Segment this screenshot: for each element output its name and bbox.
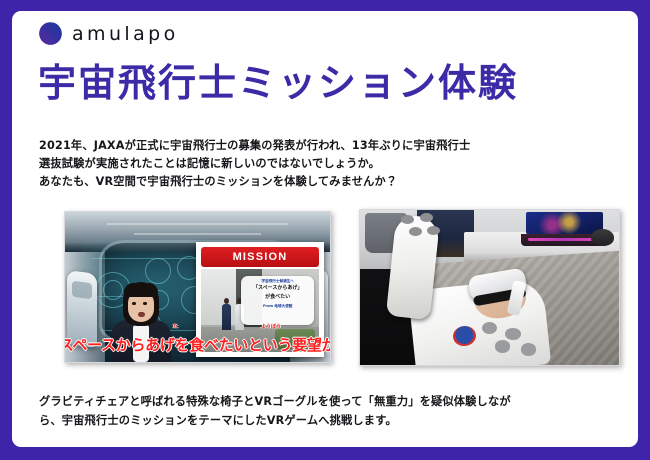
page-title: 宇宙飛行士ミッション体験	[38, 63, 518, 105]
slide-card: amulapo 宇宙飛行士ミッション体験 2021年、JAXAが正式に宇宙飛行士…	[12, 11, 638, 447]
mission-label: MISSION	[233, 251, 288, 263]
subtitle-ruby-2: ようぼう	[261, 323, 281, 330]
amulapo-circle-mark-icon	[38, 21, 63, 46]
outro-line-2: ら、宇宙飛行士のミッションをテーマにしたVRゲームへ挑戦します。	[39, 411, 544, 430]
lead-line-1: 2021年、JAXAが正式に宇宙飛行士の募集の発表が行われ、13年ぶりに宇宙飛行…	[39, 137, 470, 155]
bubble-addressee: 宇宙飛行士候補生へ	[244, 279, 311, 284]
computer-mouse	[591, 229, 614, 246]
laptop-screen	[526, 212, 604, 235]
brand-logo: amulapo	[38, 21, 179, 46]
logo-wordmark: amulapo	[72, 23, 179, 44]
lead-line-2: 選抜試験が実施されたことは記憶に新しいのではないでしょうか。	[39, 155, 470, 173]
outro-paragraph: グラビティチェアと呼ばれる特殊な椅子とVRゴーグルを使って「無重力」を疑似体験し…	[39, 392, 544, 431]
photo-row: MISSION 宇宙飛行士候補生へ 「スペースからあげ」	[12, 206, 638, 374]
subtitle-ruby-1: た	[173, 323, 178, 330]
chest-marker-1	[482, 322, 498, 334]
vr-gravity-chair-photo	[359, 209, 620, 366]
lead-line-3: あなたも、VR空間で宇宙飛行士のミッションを体験してみませんか？	[39, 173, 470, 191]
outro-line-1: グラビティチェアと呼ばれる特殊な椅子とVRゴーグルを使って「無重力」を疑似体験し…	[39, 392, 544, 411]
glove-marker-4	[427, 226, 440, 235]
glove-marker-2	[420, 213, 433, 222]
video-subtitle-bar: スペースからあげを食べたいという要望が た ようぼう	[65, 330, 330, 356]
chest-marker-4	[521, 343, 537, 355]
video-subtitle-text: スペースからあげを食べたいという要望が	[65, 338, 330, 356]
chest-marker-3	[495, 340, 511, 352]
lead-paragraph: 2021年、JAXAが正式に宇宙飛行士の募集の発表が行われ、13年ぶりに宇宙飛行…	[39, 137, 470, 191]
mission-speech-bubble: 宇宙飛行士候補生へ 「スペースからあげ」 が食べたい From 地球大使館	[241, 276, 314, 326]
bubble-line-2: が食べたい	[244, 294, 311, 301]
spacecraft-interior-photo: MISSION 宇宙飛行士候補生へ 「スペースからあげ」	[64, 211, 331, 363]
bubble-line-1: 「スペースからあげ」	[244, 285, 311, 292]
mission-title-bar: MISSION	[201, 247, 319, 267]
bubble-sender: From 地球大使館	[244, 304, 311, 309]
chest-marker-2	[505, 328, 521, 340]
slide-frame: amulapo 宇宙飛行士ミッション体験 2021年、JAXAが正式に宇宙飛行士…	[0, 0, 650, 460]
